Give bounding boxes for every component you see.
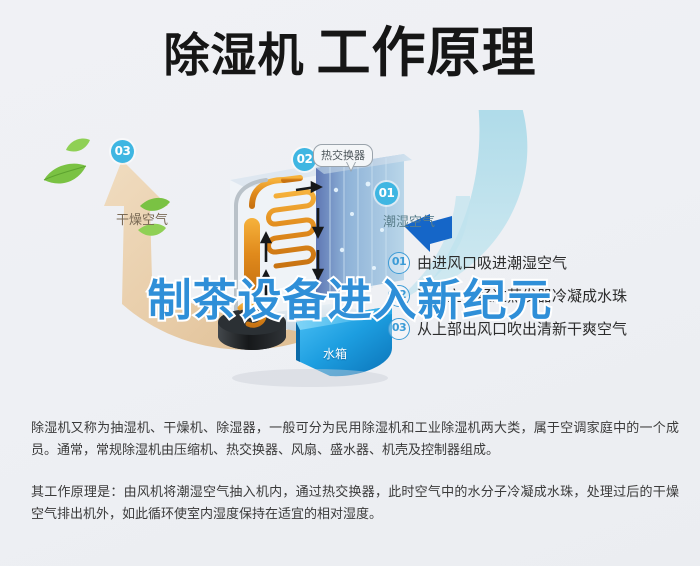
diagram-badge-01: 01	[375, 182, 398, 205]
page-title-part2: 工作原理	[317, 21, 537, 84]
label-dry-air: 干燥空气	[116, 209, 168, 228]
dehumidifier-infographic: 除湿机工作原理	[0, 0, 700, 566]
body-paragraph-2: 其工作原理是：由风机将潮湿空气抽入机内，通过热交换器，此时空气中的水分子冷凝成水…	[31, 482, 679, 526]
watermark-text: 制茶设备进入新纪元	[0, 264, 700, 328]
heat-exchanger-callout: 热交换器	[313, 144, 373, 167]
label-water-tank: 水箱	[323, 345, 347, 362]
callout-pointer-icon	[346, 162, 356, 172]
page-title-part1: 除湿机	[164, 28, 305, 82]
body-paragraph-1: 除湿机又称为抽湿机、干燥机、除湿器，一般可分为民用除湿机和工业除湿机两大类，属于…	[31, 418, 679, 462]
page-title: 除湿机工作原理	[0, 24, 700, 84]
diagram-badge-03: 03	[111, 140, 134, 163]
body-copy: 除湿机又称为抽湿机、干燥机、除湿器，一般可分为民用除湿机和工业除湿机两大类，属于…	[31, 418, 679, 526]
label-humid-air: 潮湿空气	[383, 211, 435, 230]
